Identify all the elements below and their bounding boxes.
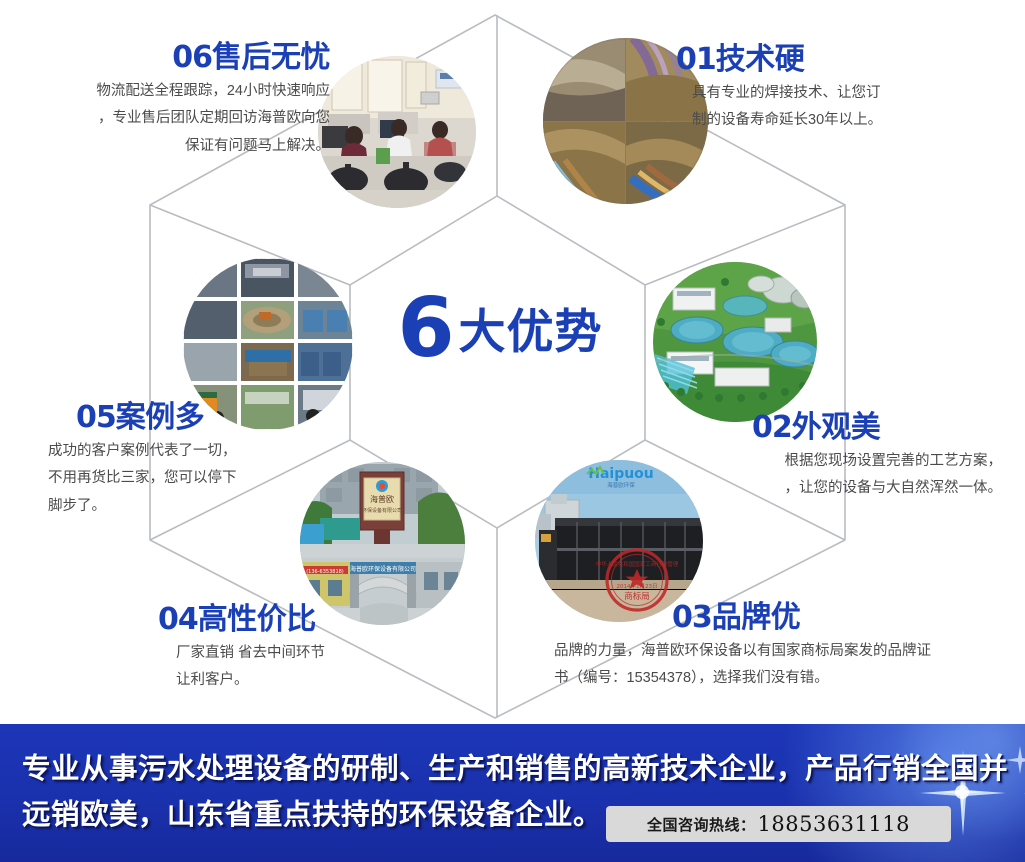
feature-appearance-number: 02 [752, 410, 792, 445]
desc-line: 具有专业的焊接技术、让您订 [692, 80, 1006, 108]
feature-technology-number: 01 [676, 42, 716, 77]
desc-line: 品牌的力量，海普欧环保设备以有国家商标局案发的品牌证 [554, 638, 994, 666]
feature-cases: 05案例多 成功的客户案例代表了一切， 不用再货比三家，您可以停下 脚步了。 [76, 402, 376, 521]
center-label-text: 大优势 [459, 305, 603, 358]
feature-cases-desc: 成功的客户案例代表了一切， 不用再货比三家，您可以停下 脚步了。 [48, 438, 376, 521]
feature-technology-desc: 具有专业的焊接技术、让您订 制的设备寿命延长30年以上。 [692, 80, 1006, 136]
infographic-page: 商标局 中华人民共和国国家工商行政管理 2014年1月23日 Haipuou 海… [0, 0, 1025, 862]
feature-technology: 01技术硬 具有专业的焊接技术、让您订 制的设备寿命延长30年以上。 [676, 44, 1006, 135]
desc-line: ，专业售后团队定期回访海普欧向您 [10, 105, 330, 133]
desc-line: 根据您现场设置完善的工艺方案， [727, 448, 1002, 476]
feature-after-sales-number: 06 [172, 40, 212, 75]
hotline-label: 全国咨询热线： [647, 814, 756, 835]
feature-value-number: 04 [158, 602, 198, 637]
feature-brand-title: 品牌优 [712, 601, 801, 634]
feature-brand-desc: 品牌的力量，海普欧环保设备以有国家商标局案发的品牌证 书（编号：15354378… [554, 638, 994, 694]
feature-after-sales-title: 售后无忧 [212, 41, 330, 74]
svg-text:2014年1月23日: 2014年1月23日 [617, 582, 658, 590]
desc-line: 书（编号：15354378），选择我们没有错。 [554, 665, 994, 693]
feature-appearance: 02外观美 根据您现场设置完善的工艺方案， ，让您的设备与大自然浑然一体。 [752, 412, 1025, 503]
office-staff-photo [318, 56, 476, 208]
svg-text:海普欧环保: 海普欧环保 [607, 481, 635, 489]
desc-line: 制的设备寿命延长30年以上。 [692, 107, 1006, 135]
desc-line: 成功的客户案例代表了一切， [48, 438, 376, 466]
desc-line: 物流配送全程跟踪，24小时快速响应 [10, 78, 330, 106]
feature-appearance-desc: 根据您现场设置完善的工艺方案， ，让您的设备与大自然浑然一体。 [727, 448, 1002, 504]
feature-cases-heading: 05案例多 [76, 402, 376, 434]
desc-line: 脚步了。 [48, 493, 376, 521]
wastewater-plant-aerial-photo [653, 262, 817, 422]
desc-line: 保证有问题马上解决。 [10, 133, 330, 161]
desc-line: 不用再货比三家，您可以停下 [48, 465, 376, 493]
feature-after-sales-heading: 06售后无忧 [10, 42, 330, 74]
feature-value-heading: 04高性价比 [158, 604, 458, 636]
svg-text:(136-6353818): (136-6353818) [306, 569, 344, 575]
feature-brand-heading: 03品牌优 [672, 602, 1022, 634]
svg-text:商标局: 商标局 [624, 591, 650, 602]
center-label: 6大优势 [370, 288, 630, 370]
feature-after-sales-desc: 物流配送全程跟踪，24小时快速响应 ，专业售后团队定期回访海普欧向您 保证有问题… [10, 78, 330, 161]
center-number: 6 [397, 281, 452, 376]
feature-after-sales: 06售后无忧 物流配送全程跟踪，24小时快速响应 ，专业售后团队定期回访海普欧向… [10, 42, 330, 161]
feature-technology-title: 技术硬 [716, 43, 805, 76]
svg-text:中华人民共和国国家工商行政管理: 中华人民共和国国家工商行政管理 [596, 560, 679, 568]
equipment-tank-photo: 商标局 中华人民共和国国家工商行政管理 2014年1月23日 Haipuou 海… [535, 460, 703, 622]
feature-cases-number: 05 [76, 400, 116, 435]
banner-line-1: 专业从事污水处理设备的研制、生产和销售的高新技术企业，产品行销全国并 [22, 746, 902, 792]
feature-brand-number: 03 [672, 600, 712, 635]
feature-value-desc: 厂家直销 省去中间环节 让利客户。 [176, 640, 458, 696]
feature-appearance-title: 外观美 [792, 411, 881, 444]
desc-line: 让利客户。 [176, 667, 458, 695]
svg-text:海普欧环保设备有限公司: 海普欧环保设备有限公司 [350, 565, 416, 573]
feature-value-title: 高性价比 [198, 603, 316, 636]
feature-technology-heading: 01技术硬 [676, 44, 1006, 76]
hotline-number: 18853631118 [758, 812, 910, 836]
hotline-box[interactable]: 全国咨询热线： 18853631118 [606, 806, 951, 842]
feature-brand: 03品牌优 品牌的力量，海普欧环保设备以有国家商标局案发的品牌证 书（编号：15… [672, 602, 1022, 693]
desc-line: ，让您的设备与大自然浑然一体。 [727, 475, 1002, 503]
feature-value: 04高性价比 厂家直销 省去中间环节 让利客户。 [158, 604, 458, 695]
desc-line: 厂家直销 省去中间环节 [176, 640, 458, 668]
feature-cases-title: 案例多 [116, 401, 205, 434]
feature-appearance-heading: 02外观美 [752, 412, 1025, 444]
